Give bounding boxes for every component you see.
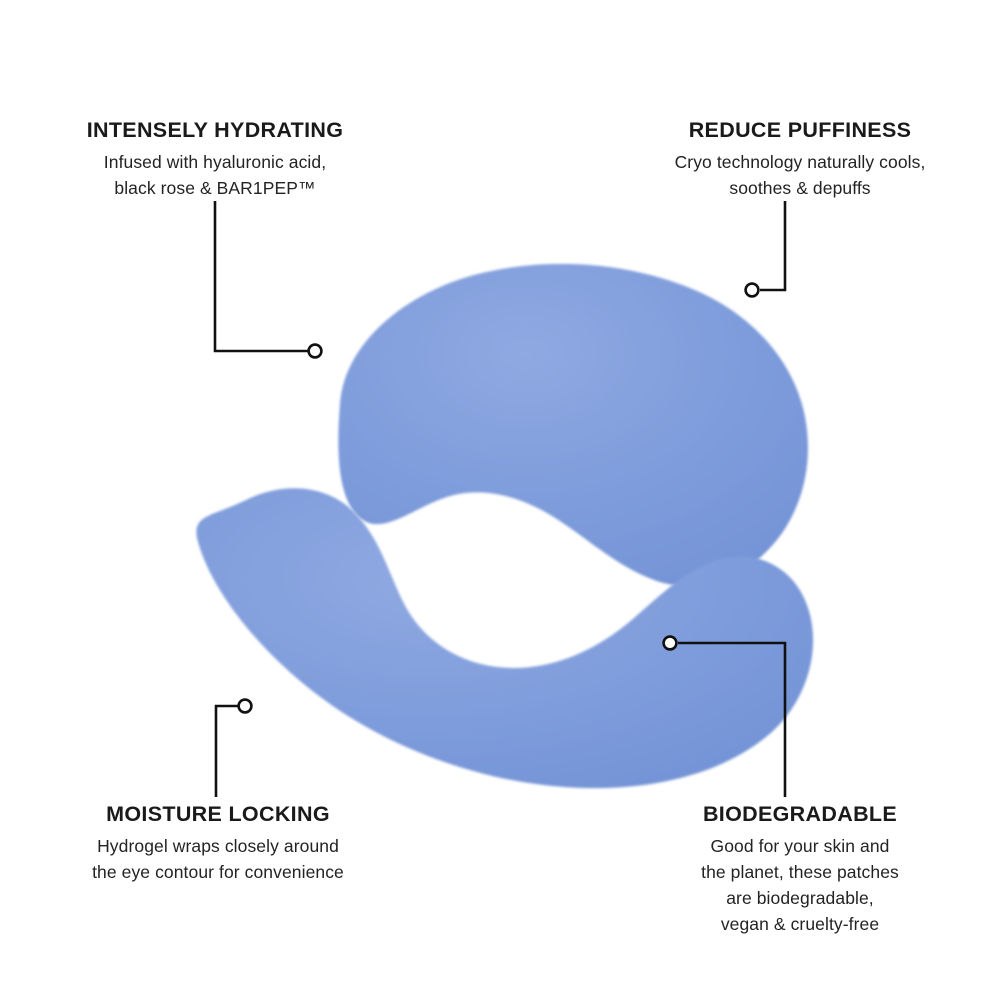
connector-marker-reduce-puffiness — [746, 284, 759, 297]
feature-description-intensely-hydrating: Infused with hyaluronic acid, black rose… — [40, 150, 390, 201]
feature-description-line: black rose & BAR1PEP™ — [40, 176, 390, 202]
feature-description-line: Good for your skin and — [620, 834, 980, 860]
connector-line-moisture-locking — [216, 706, 238, 797]
feature-title-moisture-locking: MOISTURE LOCKING — [38, 802, 398, 827]
infographic-canvas: INTENSELY HYDRATING Infused with hyaluro… — [0, 0, 1000, 1000]
feature-callout-moisture-locking: MOISTURE LOCKING Hydrogel wraps closely … — [38, 802, 398, 886]
feature-description-line: Hydrogel wraps closely around — [38, 834, 398, 860]
feature-title-reduce-puffiness: REDUCE PUFFINESS — [625, 118, 975, 143]
feature-description-line: Cryo technology naturally cools, — [625, 150, 975, 176]
connector-line-biodegradable — [678, 643, 785, 797]
connector-line-intensely-hydrating — [215, 201, 308, 351]
feature-description-line: are biodegradable, — [620, 886, 980, 912]
feature-description-biodegradable: Good for your skin and the planet, these… — [620, 834, 980, 937]
feature-title-biodegradable: BIODEGRADABLE — [620, 802, 980, 827]
feature-description-line: the planet, these patches — [620, 860, 980, 886]
feature-description-line: soothes & depuffs — [625, 176, 975, 202]
feature-description-reduce-puffiness: Cryo technology naturally cools, soothes… — [625, 150, 975, 201]
feature-description-line: vegan & cruelty-free — [620, 912, 980, 938]
feature-description-line: Infused with hyaluronic acid, — [40, 150, 390, 176]
feature-callout-reduce-puffiness: REDUCE PUFFINESS Cryo technology natural… — [625, 118, 975, 202]
connector-marker-intensely-hydrating — [309, 345, 322, 358]
connector-marker-biodegradable — [664, 637, 677, 650]
feature-callout-intensely-hydrating: INTENSELY HYDRATING Infused with hyaluro… — [40, 118, 390, 202]
feature-description-line: the eye contour for convenience — [38, 860, 398, 886]
connector-marker-moisture-locking — [239, 700, 252, 713]
feature-callout-biodegradable: BIODEGRADABLE Good for your skin and the… — [620, 802, 980, 937]
feature-title-intensely-hydrating: INTENSELY HYDRATING — [40, 118, 390, 143]
feature-description-moisture-locking: Hydrogel wraps closely around the eye co… — [38, 834, 398, 885]
connector-line-reduce-puffiness — [760, 201, 785, 290]
